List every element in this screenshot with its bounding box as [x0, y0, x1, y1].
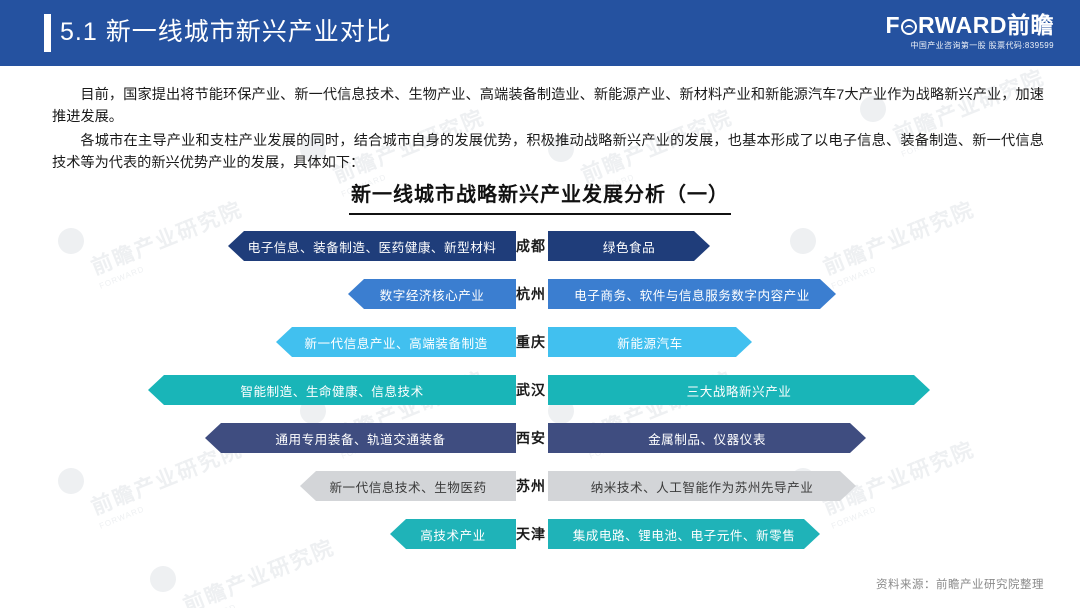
chart-row: 电子信息、装备制造、医药健康、新型材料成都绿色食品 — [0, 225, 1080, 273]
row-left-industry-chevron[interactable]: 新一代信息技术、生物医药 — [300, 471, 516, 501]
row-city-label: 西安 — [508, 423, 554, 453]
row-left-industry-chevron[interactable]: 新一代信息产业、高端装备制造 — [276, 327, 516, 357]
chart-row: 通用专用装备、轨道交通装备西安金属制品、仪器仪表 — [0, 417, 1080, 465]
chart-row: 高技术产业天津集成电路、锂电池、电子元件、新零售 — [0, 513, 1080, 561]
row-left-industry-chevron[interactable]: 智能制造、生命健康、信息技术 — [148, 375, 516, 405]
industry-comparison-chart: 新一线城市战略新兴产业发展分析（一） 电子信息、装备制造、医药健康、新型材料成都… — [0, 178, 1080, 561]
chart-row-list: 电子信息、装备制造、医药健康、新型材料成都绿色食品数字经济核心产业杭州电子商务、… — [0, 225, 1080, 561]
row-right-industry-chevron[interactable]: 集成电路、锂电池、电子元件、新零售 — [548, 519, 820, 549]
intro-text-block: 目前，国家提出将节能环保产业、新一代信息技术、生物产业、高端装备制造业、新能源产… — [52, 84, 1044, 176]
globe-icon — [901, 19, 917, 35]
row-left-industry-chevron[interactable]: 通用专用装备、轨道交通装备 — [205, 423, 516, 453]
intro-paragraph-1: 目前，国家提出将节能环保产业、新一代信息技术、生物产业、高端装备制造业、新能源产… — [52, 84, 1044, 128]
row-right-industry-chevron[interactable]: 绿色食品 — [548, 231, 710, 261]
row-right-industry-chevron[interactable]: 纳米技术、人工智能作为苏州先导产业 — [548, 471, 856, 501]
intro-paragraph-2: 各城市在主导产业和支柱产业发展的同时，结合城市自身的发展优势，积极推动战略新兴产… — [52, 130, 1044, 174]
row-right-industry-chevron[interactable]: 金属制品、仪器仪表 — [548, 423, 866, 453]
row-left-industry-chevron[interactable]: 数字经济核心产业 — [348, 279, 516, 309]
row-left-industry-chevron[interactable]: 高技术产业 — [390, 519, 516, 549]
chart-title: 新一线城市战略新兴产业发展分析（一） — [0, 178, 1080, 207]
row-city-label: 重庆 — [508, 327, 554, 357]
slide-header: 5.1 新一线城市新兴产业对比 FRWARD前瞻 中国产业咨询第一股 股票代码:… — [0, 0, 1080, 66]
slide-page: 前瞻产业研究院FORWARD前瞻产业研究院FORWARD前瞻产业研究院FORWA… — [0, 0, 1080, 608]
watermark-dot — [146, 562, 180, 596]
source-note: 资料来源：前瞻产业研究院整理 — [876, 576, 1044, 592]
logo-subtitle: 中国产业咨询第一股 股票代码:839599 — [885, 40, 1054, 52]
brand-logo: FRWARD前瞻 中国产业咨询第一股 股票代码:839599 — [885, 12, 1054, 52]
row-right-industry-chevron[interactable]: 电子商务、软件与信息服务数字内容产业 — [548, 279, 836, 309]
logo-wordmark: FRWARD前瞻 — [885, 12, 1054, 38]
row-left-industry-chevron[interactable]: 电子信息、装备制造、医药健康、新型材料 — [228, 231, 516, 261]
header-accent-bar — [44, 14, 51, 52]
chart-row: 新一代信息产业、高端装备制造重庆新能源汽车 — [0, 321, 1080, 369]
chart-row: 数字经济核心产业杭州电子商务、软件与信息服务数字内容产业 — [0, 273, 1080, 321]
chart-row: 智能制造、生命健康、信息技术武汉三大战略新兴产业 — [0, 369, 1080, 417]
page-title: 5.1 新一线城市新兴产业对比 — [60, 13, 392, 51]
chart-row: 新一代信息技术、生物医药苏州纳米技术、人工智能作为苏州先导产业 — [0, 465, 1080, 513]
row-city-label: 武汉 — [508, 375, 554, 405]
row-city-label: 天津 — [508, 519, 554, 549]
chart-title-underline — [349, 213, 731, 215]
row-city-label: 成都 — [508, 231, 554, 261]
row-city-label: 杭州 — [508, 279, 554, 309]
logo-text-post: RWARD前瞻 — [918, 12, 1054, 38]
logo-text-pre: F — [885, 12, 900, 38]
row-right-industry-chevron[interactable]: 新能源汽车 — [548, 327, 752, 357]
row-right-industry-chevron[interactable]: 三大战略新兴产业 — [548, 375, 930, 405]
row-city-label: 苏州 — [508, 471, 554, 501]
